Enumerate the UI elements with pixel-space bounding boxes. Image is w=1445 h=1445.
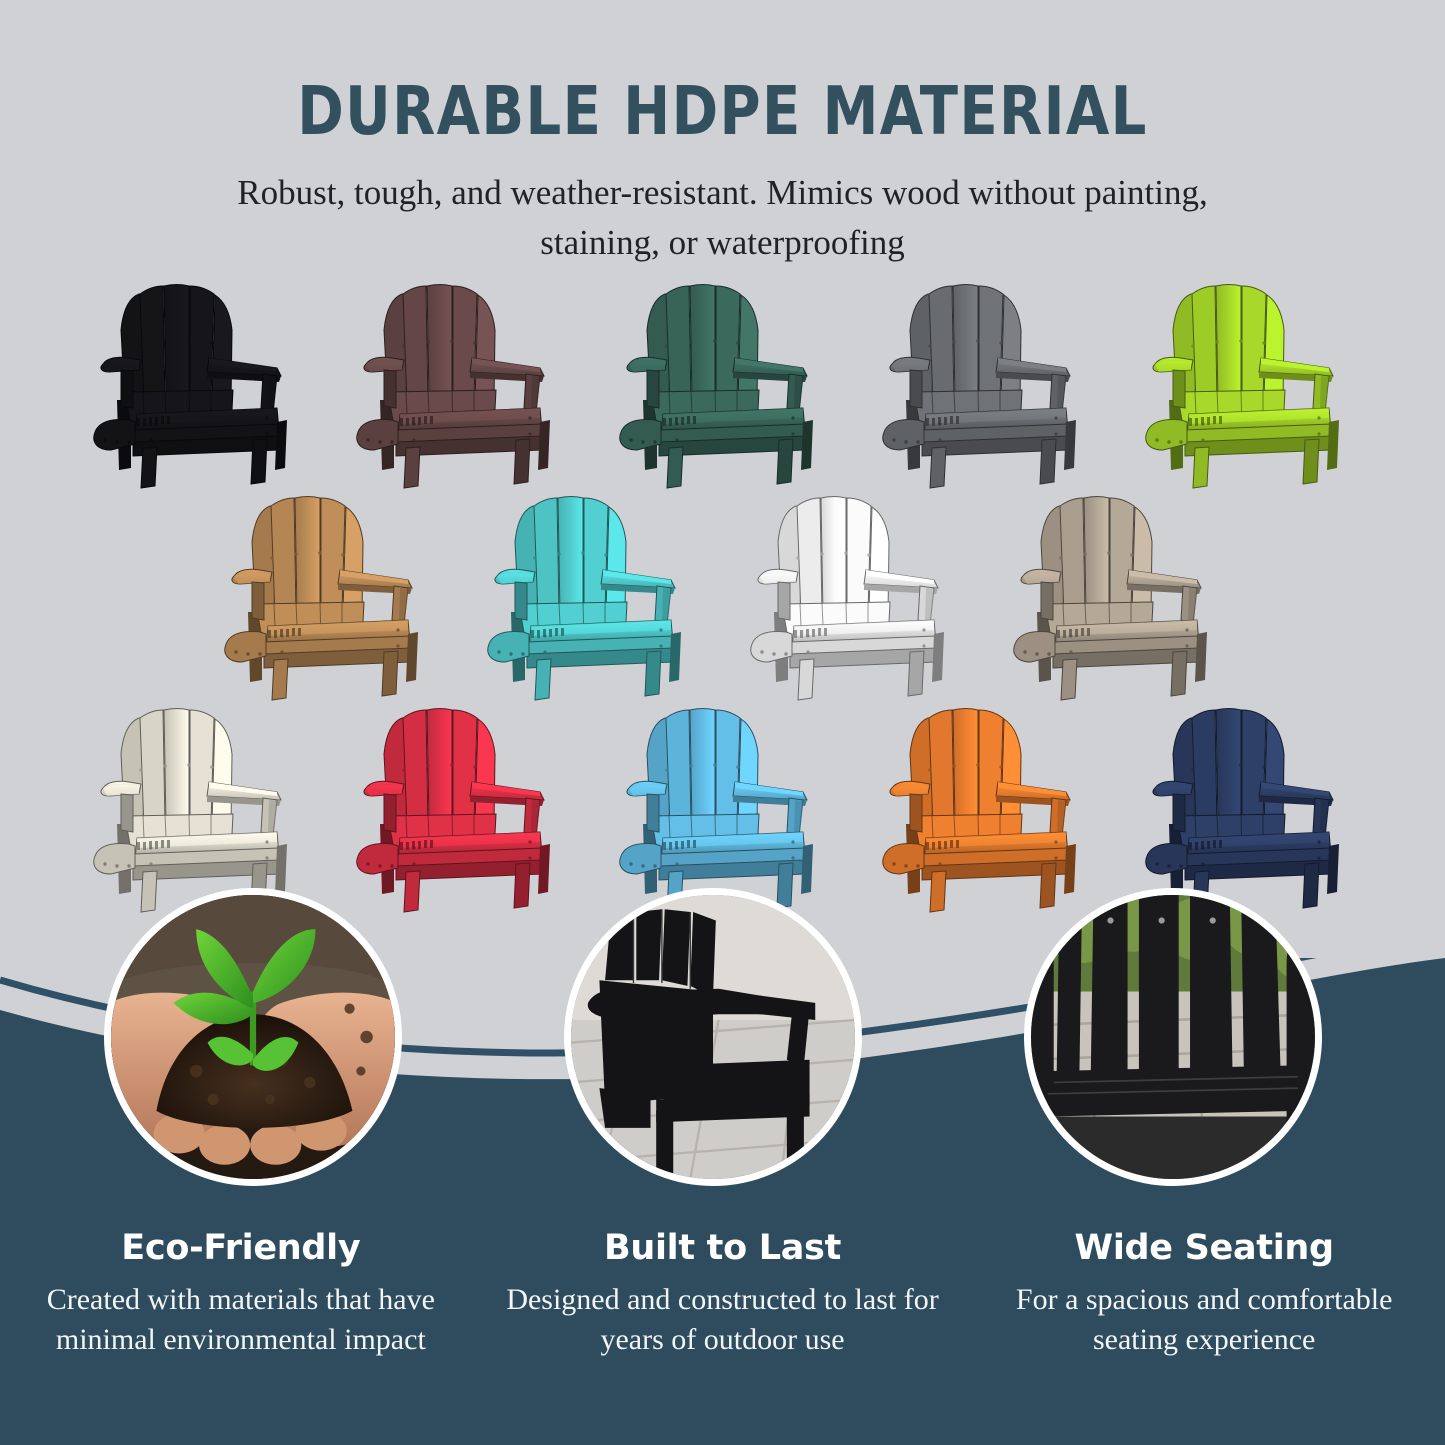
chair-weathered-wood <box>1001 484 1233 702</box>
chair-swatch-sky-blue <box>607 696 839 914</box>
chair-swatch-navy-blue <box>1133 696 1365 914</box>
page-title: DURABLE HDPE MATERIAL <box>51 0 1395 146</box>
feature-list: Eco-Friendly Created with materials that… <box>0 1228 1445 1360</box>
chair-forest-green <box>607 272 839 490</box>
chair-teak <box>212 484 444 702</box>
feature-description: For a spacious and comfortable seating e… <box>981 1280 1427 1360</box>
chair-ivory <box>81 696 313 914</box>
feature-description: Created with materials that have minimal… <box>18 1280 464 1360</box>
chair-swatch-forest-green <box>607 272 839 490</box>
feature-description: Designed and constructed to last for yea… <box>500 1280 946 1360</box>
chair-swatch-weathered-wood <box>1001 484 1233 702</box>
feature-built-to-last: Built to Last Designed and constructed t… <box>482 1228 964 1360</box>
feature-title: Eco-Friendly <box>18 1228 464 1268</box>
chair-red <box>344 696 576 914</box>
page-subtitle: Robust, tough, and weather-resistant. Mi… <box>223 146 1223 267</box>
chair-swatch-orange <box>870 696 1102 914</box>
infographic-page: DURABLE HDPE MATERIAL Robust, tough, and… <box>0 0 1445 1445</box>
chair-swatch-turquoise <box>475 484 707 702</box>
chair-turquoise <box>475 484 707 702</box>
wide-seating-photo <box>1024 888 1322 1186</box>
chair-dark-brown <box>344 272 576 490</box>
chair-swatch-gray <box>870 272 1102 490</box>
chair-swatch-black <box>81 272 313 490</box>
feature-title: Built to Last <box>500 1228 946 1268</box>
chair-color-grid <box>0 272 1445 914</box>
chair-swatch-ivory <box>81 696 313 914</box>
feature-photos <box>0 888 1445 1208</box>
chair-row-2 <box>0 484 1445 702</box>
built-to-last-photo <box>564 888 862 1186</box>
feature-title: Wide Seating <box>981 1228 1427 1268</box>
chair-swatch-dark-brown <box>344 272 576 490</box>
chair-orange <box>870 696 1102 914</box>
chair-swatch-red <box>344 696 576 914</box>
chair-gray <box>870 272 1102 490</box>
chair-white <box>738 484 970 702</box>
chair-swatch-lime-green <box>1133 272 1365 490</box>
chair-swatch-teak <box>212 484 444 702</box>
black-chair-patio-icon <box>571 895 855 1179</box>
chair-row-3 <box>0 696 1445 914</box>
feature-wide-seating: Wide Seating For a spacious and comforta… <box>963 1228 1445 1360</box>
chair-black <box>81 272 313 490</box>
eco-friendly-photo <box>104 888 402 1186</box>
chair-swatch-white <box>738 484 970 702</box>
hands-holding-seedling-icon <box>111 895 395 1179</box>
header: DURABLE HDPE MATERIAL Robust, tough, and… <box>0 0 1445 268</box>
feature-eco-friendly: Eco-Friendly Created with materials that… <box>0 1228 482 1360</box>
chair-back-slats-icon <box>1031 895 1315 1179</box>
chair-sky-blue <box>607 696 839 914</box>
chair-lime-green <box>1133 272 1365 490</box>
chair-row-1 <box>0 272 1445 490</box>
chair-navy-blue <box>1133 696 1365 914</box>
